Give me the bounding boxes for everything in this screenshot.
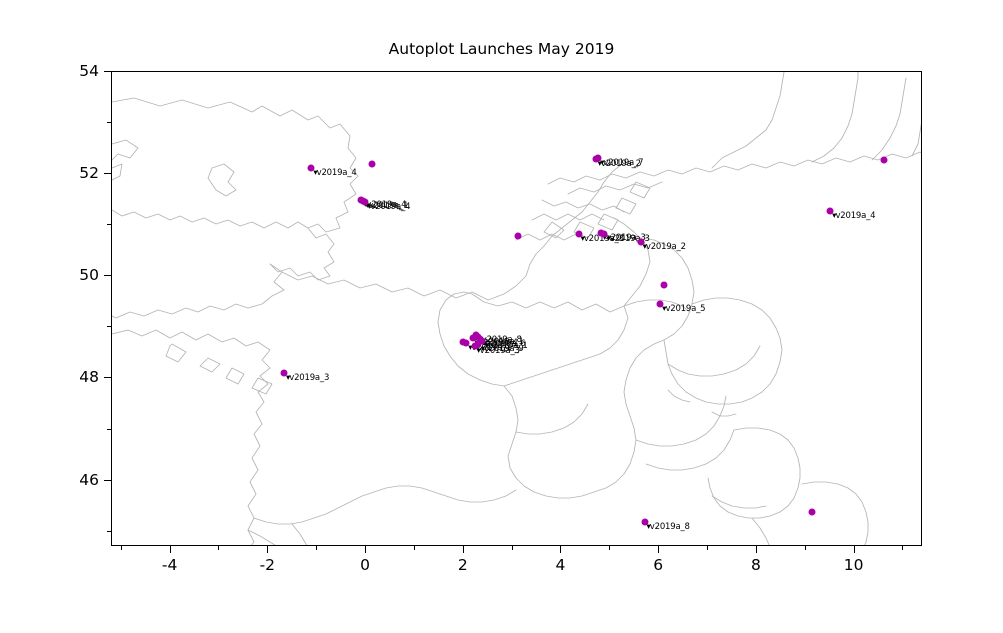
data-point-label: ▾v2019a_5 xyxy=(662,304,705,314)
x-tick-minor xyxy=(218,546,219,550)
x-tick-label: -2 xyxy=(260,556,275,574)
x-tick-label: 8 xyxy=(751,556,761,574)
x-tick-major xyxy=(854,546,855,553)
data-point-label: ▾v2019a_3 xyxy=(286,373,329,383)
data-point-label: ▾v2019a_2 xyxy=(643,242,686,252)
data-point-label: ▾v2019a_4 xyxy=(367,202,410,212)
map-coastlines xyxy=(112,72,922,546)
data-point-label: ▾v2019a_8 xyxy=(647,522,690,532)
y-tick-major xyxy=(104,173,111,174)
x-tick-label: 6 xyxy=(653,556,663,574)
y-tick-label: 50 xyxy=(63,266,99,284)
x-tick-label: -4 xyxy=(162,556,177,574)
x-tick-minor xyxy=(121,546,122,550)
x-tick-label: 2 xyxy=(458,556,468,574)
data-point-label: ▾v2019a_4 xyxy=(313,168,356,178)
x-tick-minor xyxy=(316,546,317,550)
y-tick-major xyxy=(104,377,111,378)
y-tick-minor xyxy=(107,224,111,225)
data-point-label: ▾v2019a_3 xyxy=(477,346,520,356)
x-tick-minor xyxy=(609,546,610,550)
x-tick-major xyxy=(560,546,561,553)
y-tick-minor xyxy=(107,122,111,123)
x-tick-minor xyxy=(707,546,708,550)
data-point xyxy=(368,160,375,167)
figure-canvas: Autoplot Launches May 2019 xyxy=(0,0,1003,633)
y-tick-label: 52 xyxy=(63,164,99,182)
x-tick-label: 4 xyxy=(556,556,566,574)
x-tick-major xyxy=(463,546,464,553)
x-tick-minor xyxy=(512,546,513,550)
y-tick-major xyxy=(104,480,111,481)
data-point-label: ▾v2019a_2 xyxy=(598,159,641,169)
x-tick-label: 10 xyxy=(844,556,864,574)
x-tick-major xyxy=(365,546,366,553)
data-point xyxy=(661,282,668,289)
y-tick-label: 54 xyxy=(63,62,99,80)
chart-title: Autoplot Launches May 2019 xyxy=(0,40,1003,58)
x-tick-minor xyxy=(902,546,903,550)
x-tick-label: 0 xyxy=(360,556,370,574)
y-tick-minor xyxy=(107,531,111,532)
y-tick-minor xyxy=(107,326,111,327)
data-point xyxy=(514,233,521,240)
x-tick-minor xyxy=(805,546,806,550)
data-point-label: ▾v2019a_4 xyxy=(832,211,875,221)
x-tick-major xyxy=(170,546,171,553)
x-tick-major xyxy=(267,546,268,553)
x-tick-major xyxy=(756,546,757,553)
x-tick-minor xyxy=(414,546,415,550)
data-point xyxy=(880,156,887,163)
y-tick-major xyxy=(104,71,111,72)
data-point xyxy=(808,509,815,516)
y-tick-label: 46 xyxy=(63,471,99,489)
y-tick-label: 48 xyxy=(63,368,99,386)
x-tick-major xyxy=(658,546,659,553)
y-tick-major xyxy=(104,275,111,276)
map-axes: ▾v2019a_4▾v2019a_4▾v2019a_1▾v2019a_4▾v20… xyxy=(111,71,922,546)
y-tick-minor xyxy=(107,429,111,430)
